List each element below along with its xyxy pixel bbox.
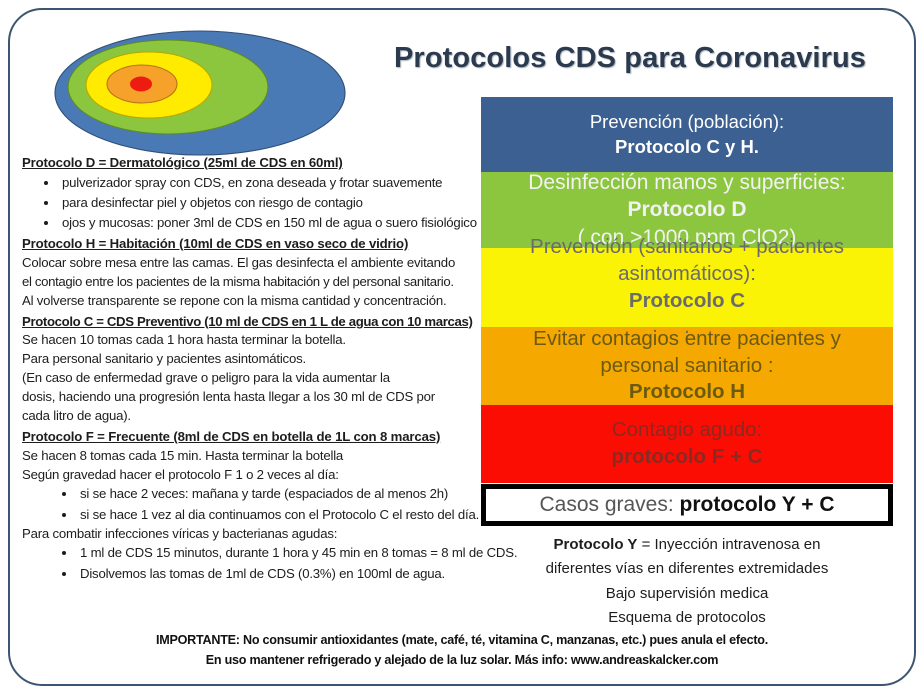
protocol-h-line-3: Al volverse transparente se repone con l…: [22, 292, 474, 311]
list-item: 1 ml de CDS 15 minutos, durante 1 hora y…: [22, 543, 474, 563]
list-item: para desinfectar piel y objetos con ries…: [22, 193, 474, 213]
list-item: si se hace 1 vez al dia continuamos con …: [22, 505, 474, 525]
protocol-y-line-2: diferentes vías en diferentes extremidad…: [481, 557, 893, 581]
list-item: Disolvemos las tomas de 1ml de CDS (0.3%…: [22, 564, 474, 584]
protocol-y-bold-lead: Protocolo Y: [554, 536, 638, 553]
protocol-y-line-1: Protocolo Y = Inyección intravenosa en: [481, 533, 893, 557]
protocol-c-line-3: (En caso de enfermedad grave o peligro p…: [22, 369, 474, 388]
list-item: pulverizador spray con CDS, en zona dese…: [22, 173, 474, 193]
severe-cases-box: Casos graves: protocolo Y + C: [481, 484, 893, 526]
protocol-y-line-4: Esquema de protocolos: [481, 606, 893, 630]
band-label-normal: Evitar contagios entre pacientes y perso…: [507, 326, 867, 379]
protocol-c-line-5: cada litro de agua).: [22, 407, 474, 426]
protocol-f-heading: Protocolo F = Frecuente (8ml de CDS en b…: [22, 428, 474, 447]
concentric-ellipses-diagram: [52, 22, 352, 164]
footer-note: IMPORTANTE: No consumir antioxidantes (m…: [46, 631, 878, 670]
band-label-bold: Protocolo C: [629, 289, 745, 312]
band-label-bold: protocolo F + C: [612, 445, 763, 468]
footer-line-2: En uso mantener refrigerado y alejado de…: [46, 651, 878, 671]
footer-line-1: IMPORTANTE: No consumir antioxidantes (m…: [46, 631, 878, 651]
protocol-h-line-1: Colocar sobre mesa entre las camas. El g…: [22, 254, 474, 273]
band-label-normal: Contagio agudo:: [507, 417, 867, 444]
protocol-d-bullets: pulverizador spray con CDS, en zona dese…: [22, 173, 474, 233]
protocol-h-heading: Protocolo H = Habitación (10ml de CDS en…: [22, 235, 474, 254]
protocol-c-line-2: Para personal sanitario y pacientes asin…: [22, 350, 474, 369]
poster-root: Protocolos CDS para Coronavirus Protocol…: [0, 0, 924, 694]
protocol-c-line-4: dosis, haciendo una progresión lenta has…: [22, 388, 474, 407]
band-label-normal: Prevención (sanitarios + pacientes asint…: [507, 234, 867, 287]
band-label-normal: Desinfección manos y superficies:: [507, 169, 867, 196]
protocol-f-bullets: si se hace 2 veces: mañana y tarde (espa…: [22, 484, 474, 524]
band-prevencion-sanitarios: Prevención (sanitarios + pacientes asint…: [481, 248, 893, 327]
acute-bullets: 1 ml de CDS 15 minutos, durante 1 hora y…: [22, 543, 474, 583]
severe-label-normal: Casos graves:: [539, 493, 679, 516]
protocol-y-description: Protocolo Y = Inyección intravenosa en d…: [481, 533, 893, 630]
page-title: Protocolos CDS para Coronavirus: [356, 42, 904, 75]
ellipse-core-red: [130, 77, 152, 92]
band-label-bold: Protocolo D: [628, 198, 747, 221]
list-item: ojos y mucosas: poner 3ml de CDS en 150 …: [22, 213, 474, 233]
band-contagio-agudo: Contagio agudo: protocolo F + C: [481, 405, 893, 483]
protocol-severity-bands: Prevención (población): Protocolo C y H.…: [481, 97, 893, 483]
protocol-text-column: Protocolo D = Dermatológico (25ml de CDS…: [22, 152, 474, 584]
band-evitar-contagios: Evitar contagios entre pacientes y perso…: [481, 327, 893, 405]
band-label-normal: Prevención (población):: [507, 110, 867, 134]
band-prevencion-poblacion: Prevención (población): Protocolo C y H.: [481, 97, 893, 172]
acute-lead-line: Para combatir infecciones víricas y bact…: [22, 525, 474, 544]
protocol-y-line-1-rest: = Inyección intravenosa en: [637, 536, 820, 553]
protocol-f-line-2: Según gravedad hacer el protocolo F 1 o …: [22, 466, 474, 485]
list-item: si se hace 2 veces: mañana y tarde (espa…: [22, 484, 474, 504]
protocol-y-line-3: Bajo supervisión medica: [481, 582, 893, 606]
protocol-c-heading: Protocolo C = CDS Preventivo (10 ml de C…: [22, 313, 474, 332]
protocol-f-line-1: Se hacen 8 tomas cada 15 min. Hasta term…: [22, 447, 474, 466]
severe-label-bold: protocolo Y + C: [680, 493, 835, 516]
protocol-h-line-2: el contagio entre los pacientes de la mi…: [22, 273, 474, 292]
protocol-d-heading: Protocolo D = Dermatológico (25ml de CDS…: [22, 154, 474, 173]
band-label-bold: Protocolo C y H.: [615, 136, 759, 157]
protocol-c-line-1: Se hacen 10 tomas cada 1 hora hasta term…: [22, 331, 474, 350]
band-label-bold: Protocolo H: [629, 380, 745, 403]
